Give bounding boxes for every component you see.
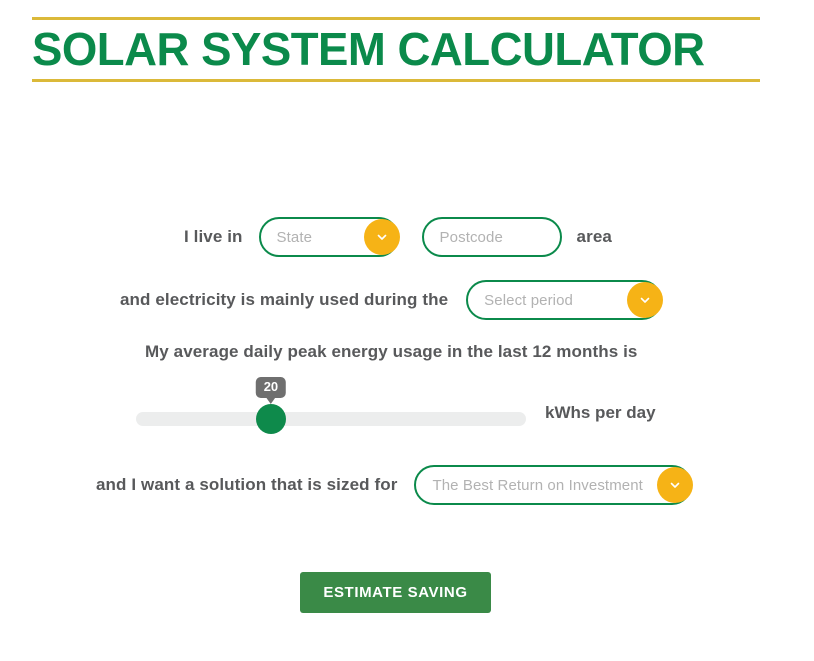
slider-thumb[interactable] xyxy=(256,404,286,434)
chevron-down-icon[interactable] xyxy=(627,282,663,318)
sizing-label: and I want a solution that is sized for xyxy=(96,475,397,495)
period-label: and electricity is mainly used during th… xyxy=(120,290,448,310)
row-location: I live in State Postcode area xyxy=(184,217,612,257)
solar-calculator-form: I live in State Postcode area and electr… xyxy=(0,0,791,661)
live-in-label: I live in xyxy=(184,227,243,247)
postcode-input-placeholder: Postcode xyxy=(424,229,503,246)
row-sizing: and I want a solution that is sized for … xyxy=(96,465,692,505)
state-select[interactable]: State xyxy=(259,217,399,257)
sizing-select[interactable]: The Best Return on Investment xyxy=(414,465,692,505)
period-select[interactable]: Select period xyxy=(466,280,662,320)
chevron-down-icon[interactable] xyxy=(657,467,693,503)
postcode-input[interactable]: Postcode xyxy=(422,217,562,257)
chevron-down-icon[interactable] xyxy=(364,219,400,255)
sizing-select-placeholder: The Best Return on Investment xyxy=(416,477,643,494)
area-label: area xyxy=(577,227,612,247)
row-usage-label: My average daily peak energy usage in th… xyxy=(145,342,637,362)
slider-value-tooltip: 20 xyxy=(256,377,286,398)
usage-unit-label: kWhs per day xyxy=(545,403,656,423)
row-period: and electricity is mainly used during th… xyxy=(120,280,662,320)
state-select-placeholder: State xyxy=(261,229,313,246)
usage-label: My average daily peak energy usage in th… xyxy=(145,342,637,362)
usage-slider[interactable]: 20 xyxy=(136,412,526,426)
period-select-placeholder: Select period xyxy=(468,292,573,309)
slider-track[interactable] xyxy=(136,412,526,426)
estimate-saving-button[interactable]: ESTIMATE SAVING xyxy=(300,572,491,613)
